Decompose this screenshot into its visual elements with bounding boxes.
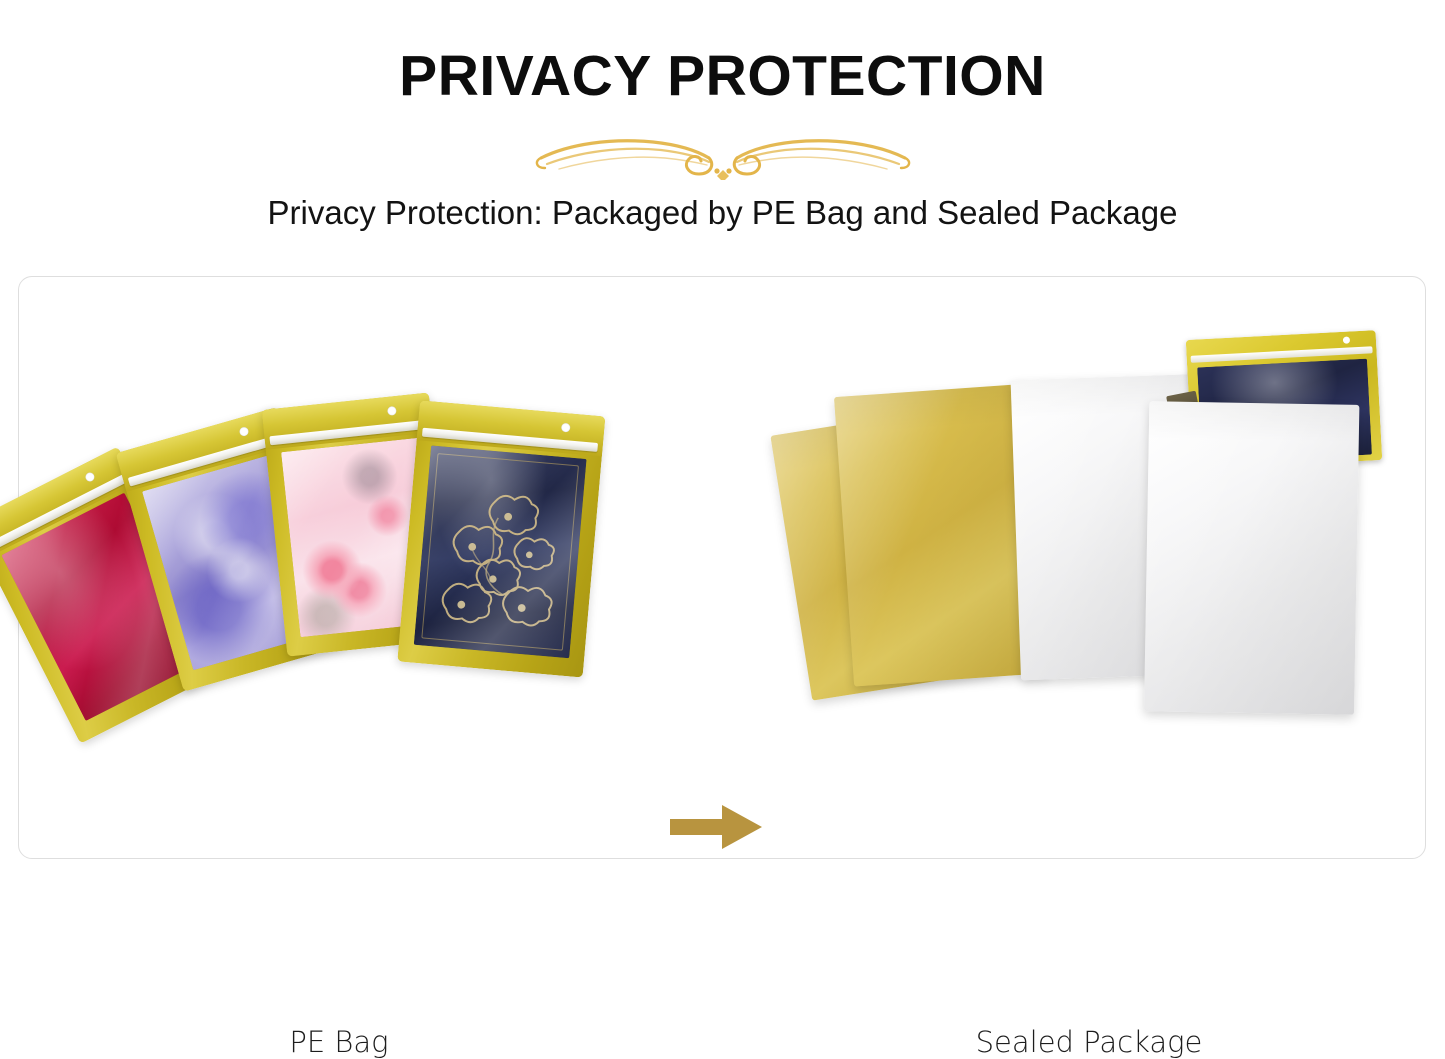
sealed-package-image — [799, 317, 1419, 717]
pe-bag-caption: PE Bag — [149, 1025, 529, 1059]
envelope-shade — [1144, 401, 1359, 715]
comparison-card: PE Bag Sealed Package — [18, 276, 1426, 859]
bag-clear-window — [414, 445, 587, 658]
privacy-protection-banner: PRIVACY PROTECTION — [0, 0, 1445, 894]
pe-bag-item-navy — [397, 400, 605, 677]
envelope-white-front — [1144, 401, 1359, 715]
sealed-package-caption: Sealed Package — [899, 1025, 1279, 1059]
right-arrow-icon — [670, 803, 762, 851]
gold-floral-embroidery-icon — [414, 445, 587, 658]
pe-bag-image — [59, 387, 629, 717]
ornamental-flourish-divider-icon — [533, 124, 913, 180]
garment-navy-embroidered — [414, 445, 587, 658]
page-title: PRIVACY PROTECTION — [0, 47, 1445, 107]
page-subtitle: Privacy Protection: Packaged by PE Bag a… — [0, 194, 1445, 232]
